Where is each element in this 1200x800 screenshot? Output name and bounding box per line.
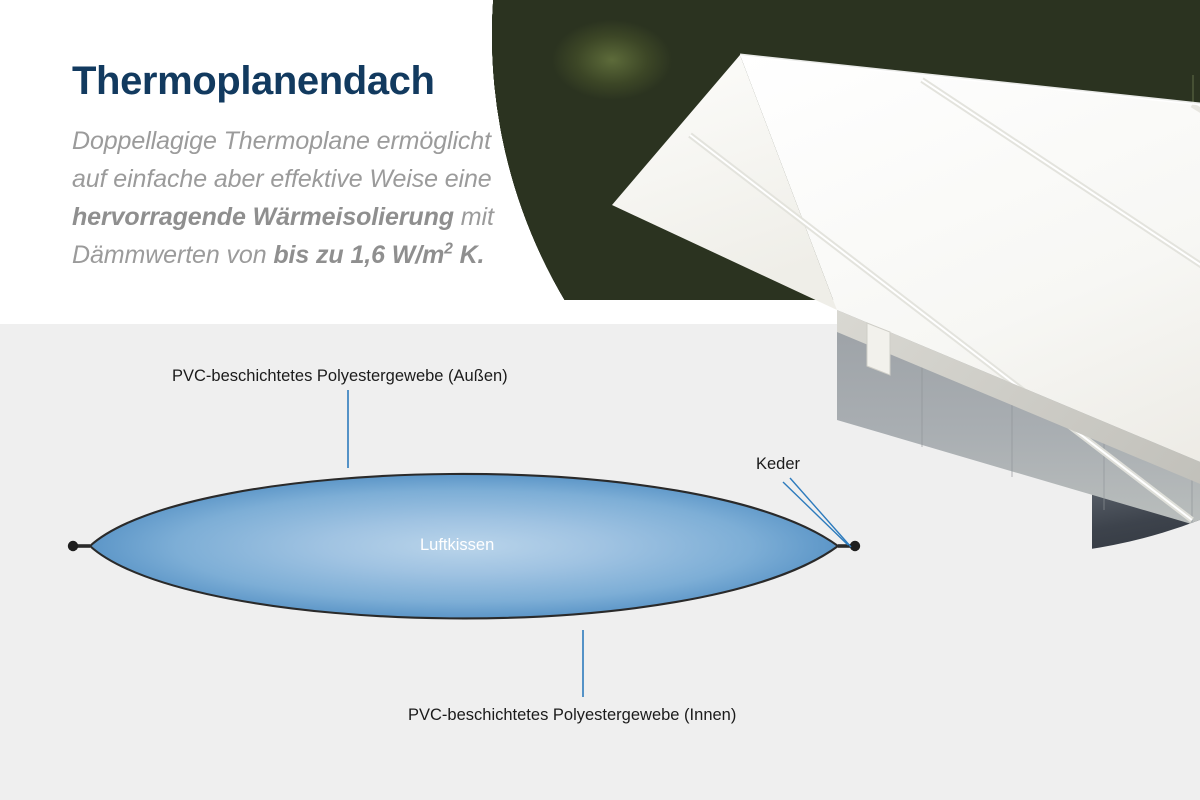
label-air-cushion: Luftkissen — [420, 536, 494, 555]
cushion-diagram-svg — [0, 0, 1200, 800]
keder-node-right — [838, 541, 860, 551]
label-inner-membrane: PVC-beschichtetes Polyestergewebe (Innen… — [408, 706, 736, 725]
cushion-diagram: PVC-beschichtetes Polyestergewebe (Außen… — [0, 0, 1200, 800]
label-keder: Keder — [756, 455, 800, 474]
label-outer-membrane: PVC-beschichtetes Polyestergewebe (Außen… — [172, 367, 508, 386]
keder-node-left — [68, 541, 90, 551]
page-root: Thermoplanendach Doppellagige Thermoplan… — [0, 0, 1200, 800]
